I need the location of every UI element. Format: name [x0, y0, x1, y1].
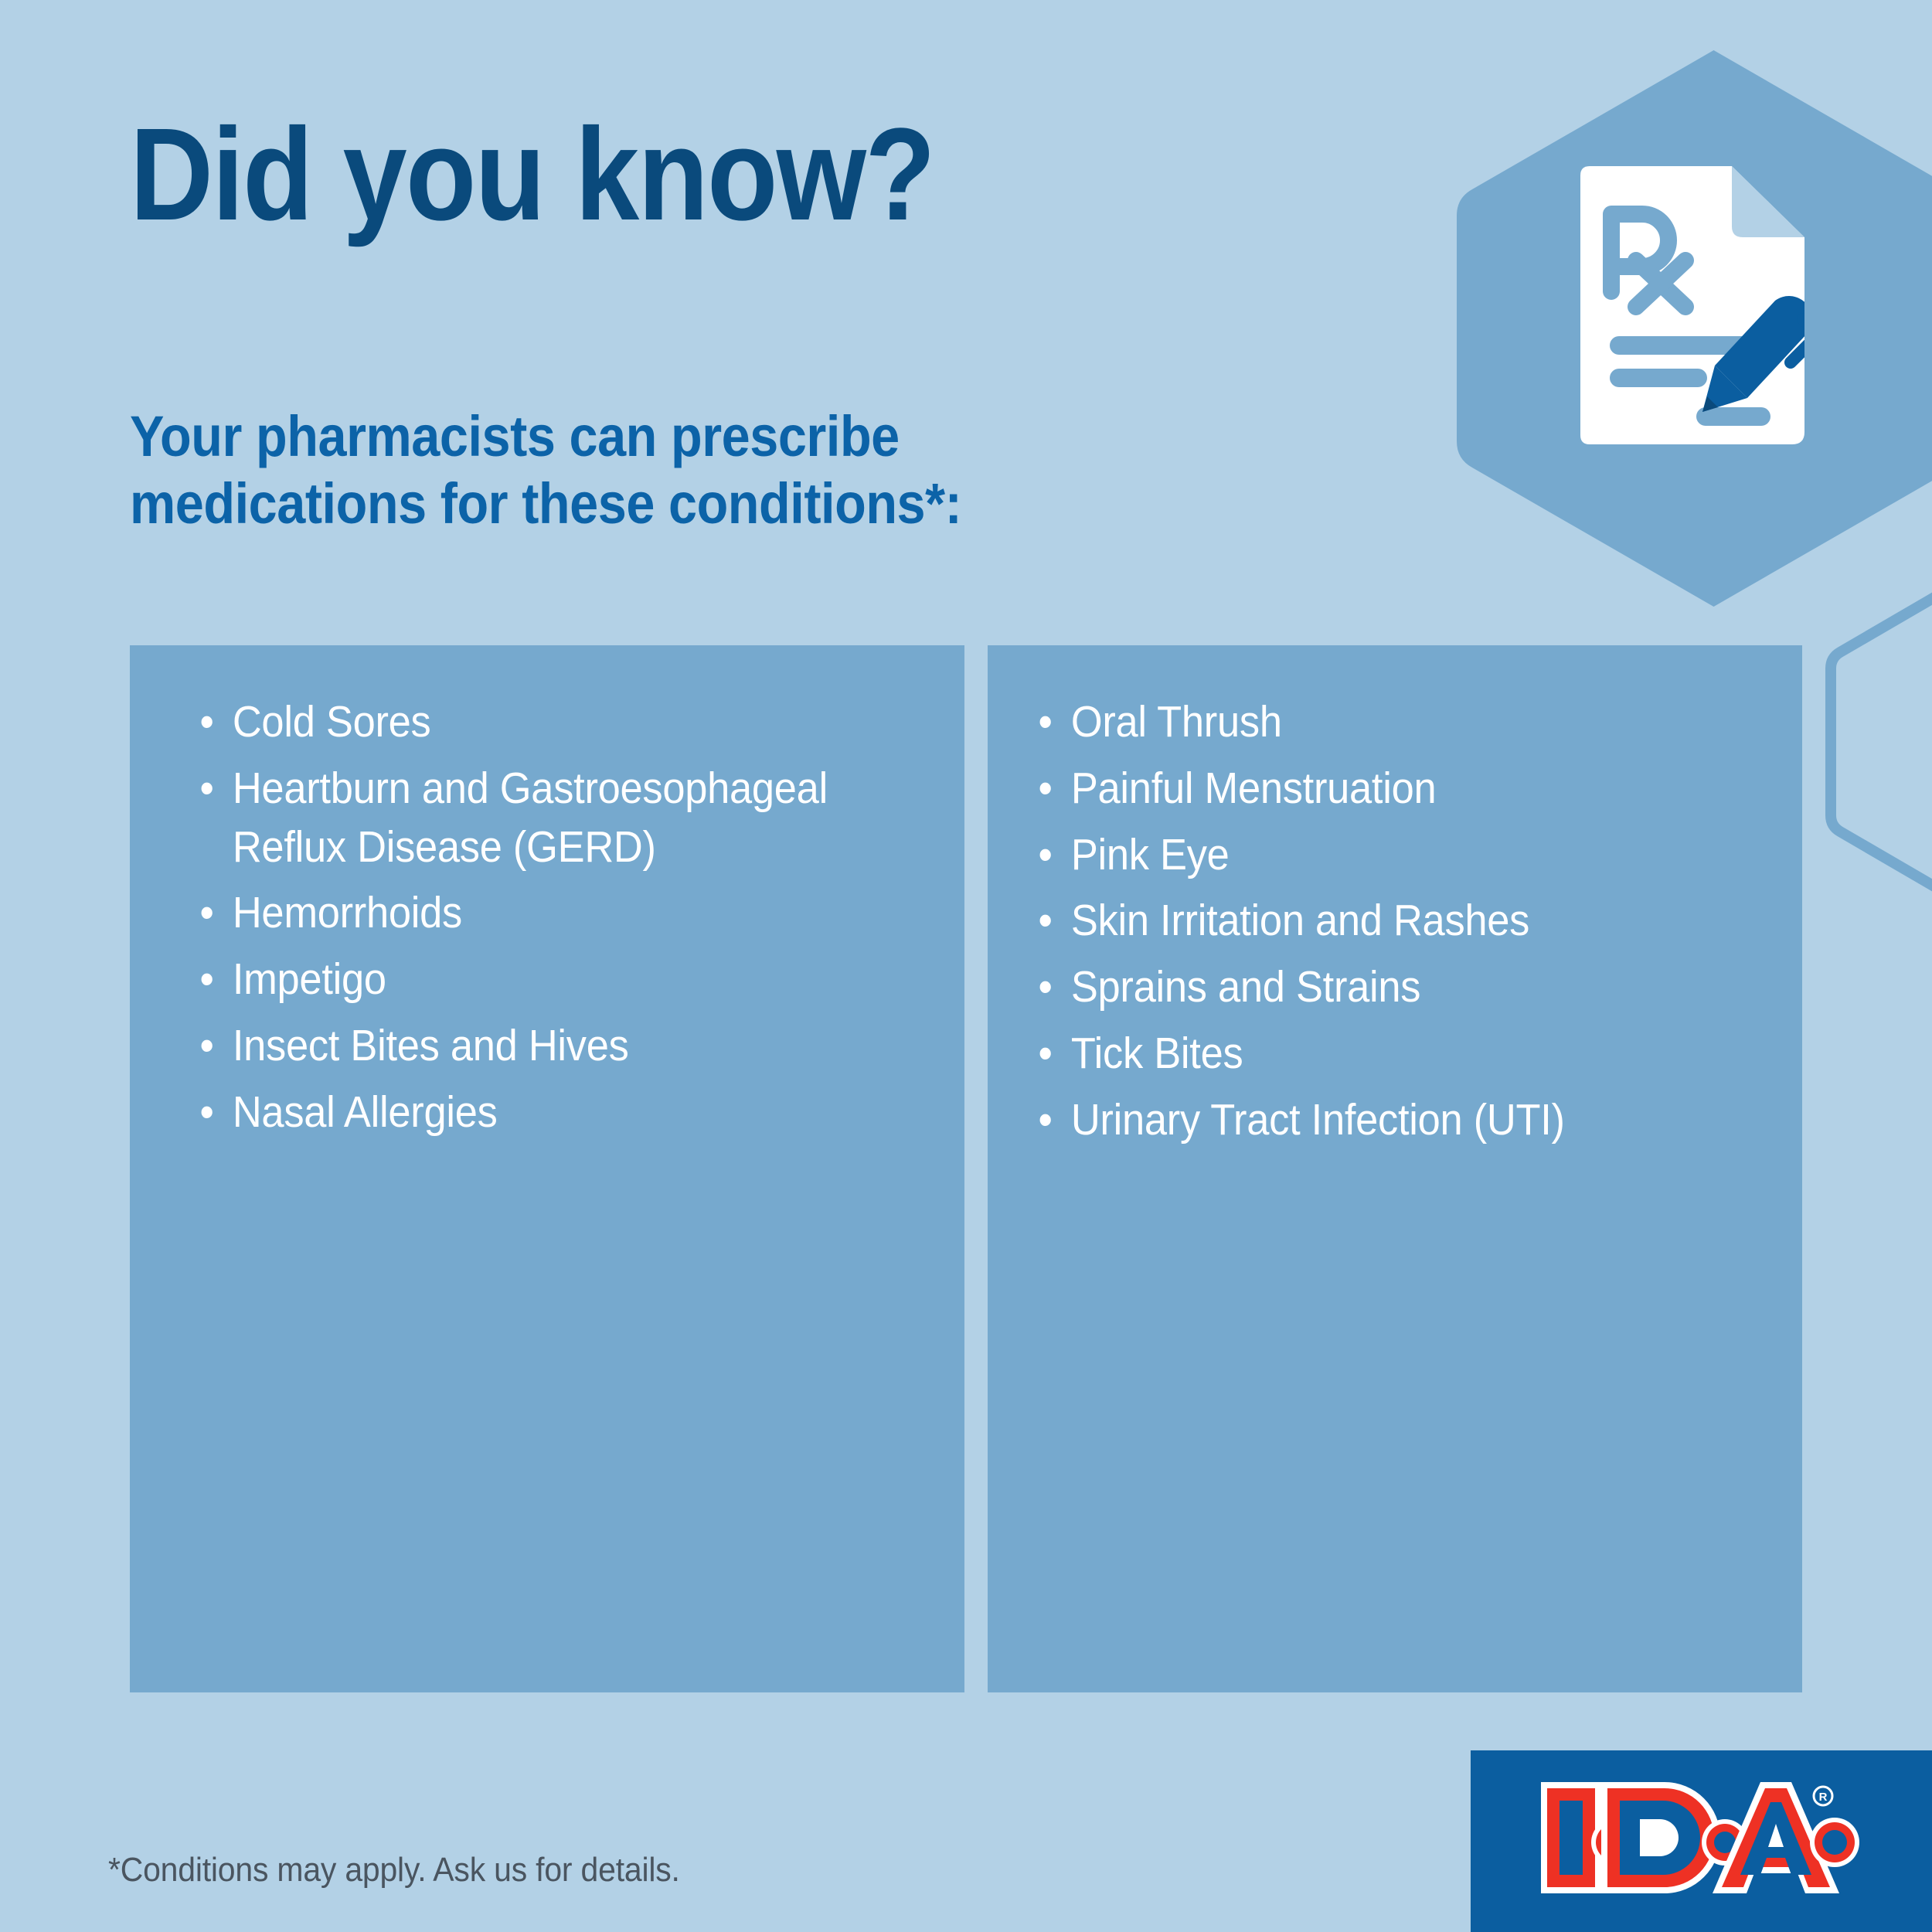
bullet-icon: •	[1039, 826, 1053, 885]
list-item: • Tick Bites	[1034, 1025, 1719, 1083]
page-subtitle: Your pharmacists can prescribe medicatio…	[130, 403, 961, 537]
bullet-icon: •	[1039, 1091, 1053, 1150]
bullet-icon: •	[200, 884, 214, 943]
bullet-icon: •	[200, 693, 214, 752]
list-item-label: Skin Irritation and Rashes	[1071, 896, 1529, 945]
conditions-list-right: • Oral Thrush • Painful Menstruation • P…	[988, 645, 1802, 1150]
list-item-label: Nasal Allergies	[233, 1087, 498, 1137]
rx-prescription-icon	[1580, 166, 1804, 444]
bullet-icon: •	[200, 1083, 214, 1142]
hexagon-outline-icon	[1820, 556, 1932, 927]
list-item-label: Insect Bites and Hives	[233, 1021, 629, 1070]
bullet-icon: •	[200, 951, 214, 1009]
list-item-label: Tick Bites	[1071, 1029, 1243, 1078]
list-item: • Skin Irritation and Rashes	[1034, 892, 1719, 951]
list-item: • Nasal Allergies	[196, 1083, 875, 1142]
list-item: • Pink Eye	[1034, 826, 1719, 885]
page-title: Did you know?	[130, 108, 934, 242]
bullet-icon: •	[1039, 1025, 1053, 1083]
list-item-label: Hemorrhoids	[233, 888, 462, 937]
list-item-label: Urinary Tract Infection (UTI)	[1071, 1095, 1565, 1145]
conditions-list-left: • Cold Sores • Heartburn and Gastroesoph…	[130, 645, 964, 1142]
bullet-icon: •	[1039, 693, 1053, 752]
subtitle-line-2: medications for these conditions*:	[130, 471, 961, 538]
list-item-label: Cold Sores	[233, 697, 431, 747]
bullet-icon: •	[200, 1017, 214, 1076]
bullet-icon: •	[1039, 760, 1053, 818]
list-item-label: Sprains and Strains	[1071, 962, 1420, 1012]
footnote-text: *Conditions may apply. Ask us for detail…	[108, 1851, 680, 1889]
list-item-label: Impetigo	[233, 954, 386, 1004]
trademark-symbol: R	[1819, 1791, 1828, 1804]
ida-logo: R	[1536, 1776, 1861, 1900]
bullet-icon: •	[1039, 958, 1053, 1017]
list-item: • Insect Bites and Hives	[196, 1017, 875, 1076]
logo-block: R	[1471, 1750, 1932, 1932]
list-item-label: Pink Eye	[1071, 830, 1230, 879]
conditions-panel-right: • Oral Thrush • Painful Menstruation • P…	[988, 645, 1802, 1692]
subtitle-line-1: Your pharmacists can prescribe	[130, 403, 961, 471]
list-item: • Painful Menstruation	[1034, 760, 1719, 818]
list-item: • Oral Thrush	[1034, 693, 1719, 752]
list-item: • Urinary Tract Infection (UTI)	[1034, 1091, 1719, 1150]
infographic-poster: Did you know? Your pharmacists can presc…	[0, 0, 1932, 1932]
list-item: • Cold Sores	[196, 693, 875, 752]
list-item: • Impetigo	[196, 951, 875, 1009]
conditions-panel-left: • Cold Sores • Heartburn and Gastroesoph…	[130, 645, 964, 1692]
bullet-icon: •	[200, 760, 214, 818]
list-item-label: Heartburn and Gastroesophageal Reflux Di…	[233, 764, 828, 872]
list-item: • Hemorrhoids	[196, 884, 875, 943]
list-item: • Sprains and Strains	[1034, 958, 1719, 1017]
list-item: • Heartburn and Gastroesophageal Reflux …	[196, 760, 875, 877]
bullet-icon: •	[1039, 892, 1053, 951]
list-item-label: Painful Menstruation	[1071, 764, 1437, 813]
list-item-label: Oral Thrush	[1071, 697, 1282, 747]
